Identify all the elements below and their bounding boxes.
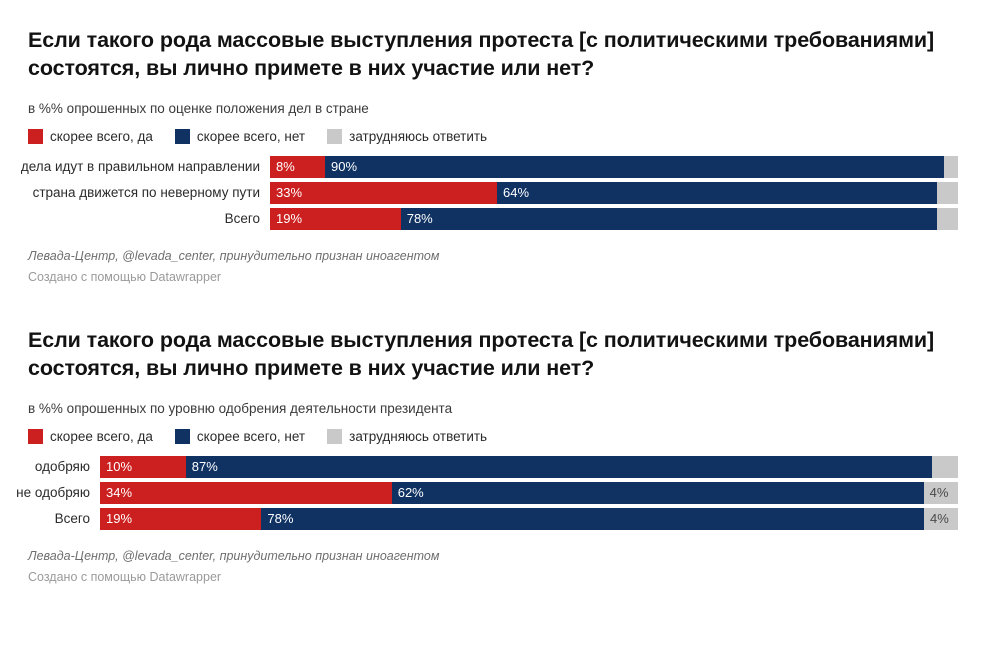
- bar-segment-na[interactable]: [937, 208, 958, 230]
- footer-credit: Создано с помощью Datawrapper: [28, 269, 972, 286]
- chart-subtitle: в %% опрошенных по оценке положения дел …: [0, 82, 1000, 118]
- legend-label-yes: скорее всего, да: [50, 429, 153, 444]
- chart-block-president-approval: Если такого рода массовые выступления пр…: [0, 326, 1000, 586]
- bar-track: 19% 78%: [270, 208, 958, 230]
- bar-segment-yes[interactable]: 34%: [100, 482, 392, 504]
- bar-segment-no-value: 90%: [325, 156, 357, 178]
- legend-swatch-yes-icon: [28, 429, 43, 444]
- bar-row-label: не одобряю: [0, 482, 100, 504]
- footer-source: Левада-Центр, @levada_center, принудител…: [28, 248, 972, 265]
- bar-group: одобряю 10% 87% не одобряю: [0, 456, 1000, 530]
- bar-segment-yes[interactable]: 19%: [270, 208, 401, 230]
- bar-segment-no-value: 62%: [392, 482, 424, 504]
- bar-track: 8% 90%: [270, 156, 958, 178]
- legend-swatch-yes-icon: [28, 129, 43, 144]
- bar-segment-no-value: 78%: [401, 208, 433, 230]
- bar-segment-no[interactable]: 78%: [401, 208, 938, 230]
- legend-item-no[interactable]: скорее всего, нет: [175, 129, 305, 144]
- bar-row-label: Всего: [0, 508, 100, 530]
- bar-segment-no-value: 64%: [497, 182, 529, 204]
- bar-segment-no[interactable]: 64%: [497, 182, 937, 204]
- bar-group: дела идут в правильном направлении 8% 90…: [0, 156, 1000, 230]
- legend-label-no: скорее всего, нет: [197, 429, 305, 444]
- chart-legend: скорее всего, да скорее всего, нет затру…: [0, 418, 1000, 444]
- bar-segment-yes-value: 10%: [100, 456, 132, 478]
- page-root: Если такого рода массовые выступления пр…: [0, 0, 1000, 654]
- chart-footer: Левада-Центр, @levada_center, принудител…: [0, 534, 1000, 586]
- bar-segment-yes-value: 8%: [270, 156, 295, 178]
- legend-item-na[interactable]: затрудняюсь ответить: [327, 129, 487, 144]
- legend-label-no: скорее всего, нет: [197, 129, 305, 144]
- bar-segment-na[interactable]: 4%: [924, 508, 958, 530]
- legend-swatch-no-icon: [175, 129, 190, 144]
- chart-title: Если такого рода массовые выступления пр…: [0, 326, 1000, 382]
- bar-segment-yes-value: 34%: [100, 482, 132, 504]
- bar-segment-na[interactable]: [944, 156, 958, 178]
- bar-segment-yes-value: 19%: [100, 508, 132, 530]
- footer-source: Левада-Центр, @levada_center, принудител…: [28, 548, 972, 565]
- bar-segment-no[interactable]: 87%: [186, 456, 932, 478]
- bar-track: 10% 87%: [100, 456, 958, 478]
- bar-segment-no-value: 78%: [261, 508, 293, 530]
- bar-segment-yes-value: 19%: [270, 208, 302, 230]
- bar-segment-na-value: 4%: [924, 482, 949, 504]
- legend-item-na[interactable]: затрудняюсь ответить: [327, 429, 487, 444]
- chart-legend: скорее всего, да скорее всего, нет затру…: [0, 118, 1000, 144]
- bar-row-label: Всего: [0, 208, 270, 230]
- bar-row: Всего 19% 78%: [0, 208, 1000, 230]
- footer-credit: Создано с помощью Datawrapper: [28, 569, 972, 586]
- bar-track: 19% 78% 4%: [100, 508, 958, 530]
- chart-footer: Левада-Центр, @levada_center, принудител…: [0, 234, 1000, 286]
- bar-segment-yes-value: 33%: [270, 182, 302, 204]
- chart-subtitle: в %% опрошенных по уровню одобрения деят…: [0, 382, 1000, 418]
- bar-segment-yes[interactable]: 10%: [100, 456, 186, 478]
- bar-segment-na-value: 4%: [924, 508, 949, 530]
- bar-row: Всего 19% 78% 4%: [0, 508, 1000, 530]
- bar-segment-na[interactable]: [932, 456, 958, 478]
- legend-item-no[interactable]: скорее всего, нет: [175, 429, 305, 444]
- chart-block-country-direction: Если такого рода массовые выступления пр…: [0, 26, 1000, 286]
- chart-title: Если такого рода массовые выступления пр…: [0, 26, 1000, 82]
- bar-row: не одобряю 34% 62% 4%: [0, 482, 1000, 504]
- bar-track: 33% 64%: [270, 182, 958, 204]
- bar-row: дела идут в правильном направлении 8% 90…: [0, 156, 1000, 178]
- legend-label-yes: скорее всего, да: [50, 129, 153, 144]
- legend-swatch-na-icon: [327, 129, 342, 144]
- bar-segment-yes[interactable]: 8%: [270, 156, 325, 178]
- bar-segment-no[interactable]: 78%: [261, 508, 924, 530]
- bar-row-label: одобряю: [0, 456, 100, 478]
- bar-row: страна движется по неверному пути 33% 64…: [0, 182, 1000, 204]
- legend-item-yes[interactable]: скорее всего, да: [28, 129, 153, 144]
- bar-segment-yes[interactable]: 19%: [100, 508, 261, 530]
- legend-swatch-na-icon: [327, 429, 342, 444]
- legend-swatch-no-icon: [175, 429, 190, 444]
- bar-row-label: дела идут в правильном направлении: [0, 156, 270, 178]
- bar-segment-no[interactable]: 90%: [325, 156, 944, 178]
- bar-segment-na[interactable]: [937, 182, 958, 204]
- legend-label-na: затрудняюсь ответить: [349, 429, 487, 444]
- bar-row-label: страна движется по неверному пути: [0, 182, 270, 204]
- bar-segment-na[interactable]: 4%: [924, 482, 958, 504]
- bar-segment-yes[interactable]: 33%: [270, 182, 497, 204]
- bar-segment-no[interactable]: 62%: [392, 482, 924, 504]
- legend-label-na: затрудняюсь ответить: [349, 129, 487, 144]
- bar-row: одобряю 10% 87%: [0, 456, 1000, 478]
- legend-item-yes[interactable]: скорее всего, да: [28, 429, 153, 444]
- bar-track: 34% 62% 4%: [100, 482, 958, 504]
- bar-segment-no-value: 87%: [186, 456, 218, 478]
